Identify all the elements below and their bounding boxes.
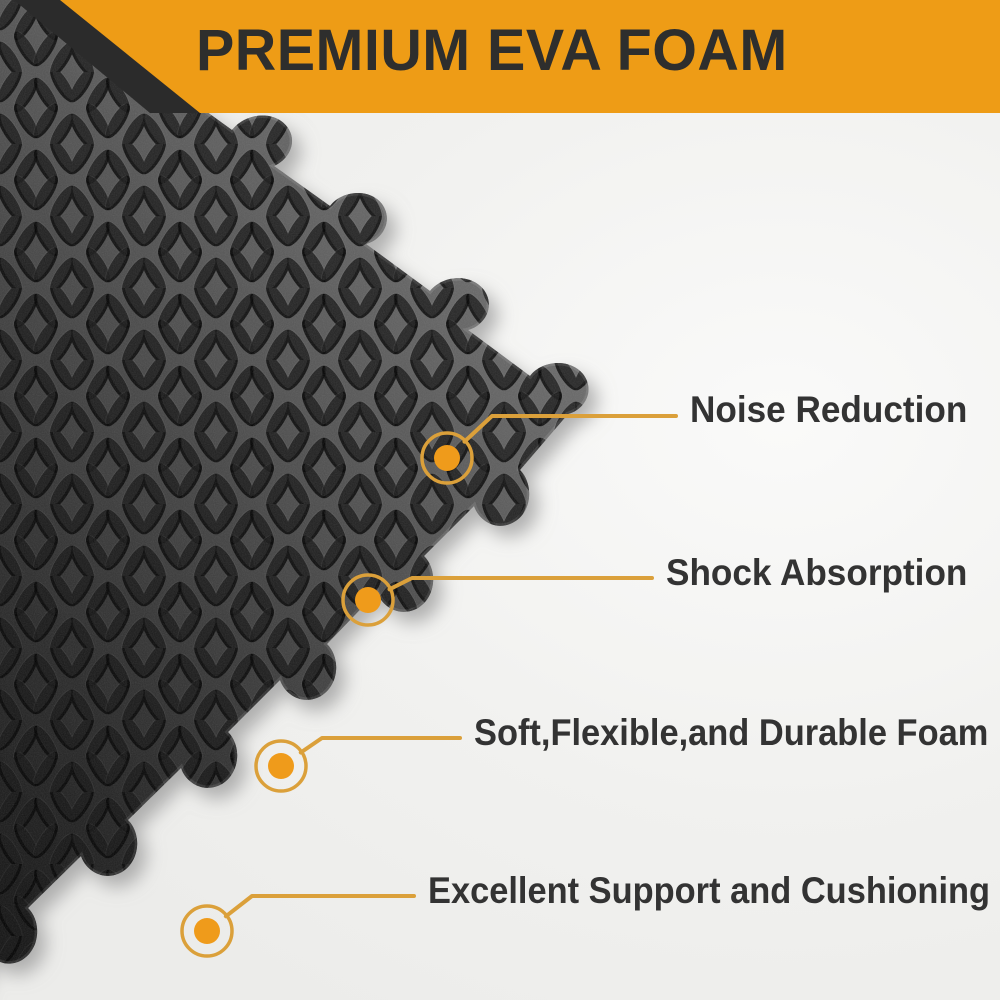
callout-label-excellent-support-cushioning: Excellent Support and Cushioning [428, 870, 990, 912]
mat-illustration [0, 0, 1000, 1000]
page-title: PREMIUM EVA FOAM [196, 14, 968, 88]
mat-tread-pattern [0, 0, 1000, 1000]
callout-label-noise-reduction: Noise Reduction [690, 389, 967, 431]
callout-label-shock-absorption: Shock Absorption [666, 552, 967, 594]
foam-mat-image [0, 0, 1000, 1000]
callout-label-soft-flexible-durable-foam: Soft,Flexible,and Durable Foam [474, 712, 988, 754]
header-banner: PREMIUM EVA FOAM [0, 0, 1000, 118]
product-infographic: PREMIUM EVA FOAM Noise Reduction Shock A… [0, 0, 1000, 1000]
